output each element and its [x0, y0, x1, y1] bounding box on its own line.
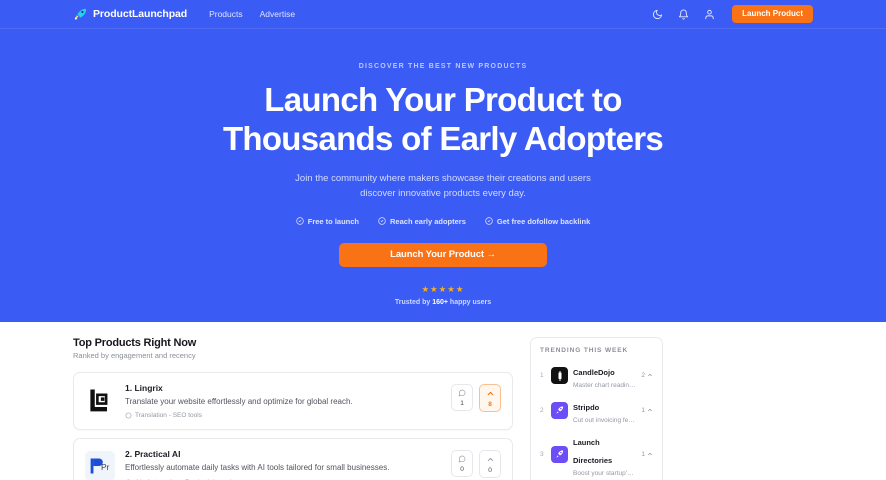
hero-launch-product-button[interactable]: Launch Your Product → — [339, 243, 547, 267]
product-description: Translate your website effortlessly and … — [125, 397, 441, 407]
product-title[interactable]: 2. Practical AI — [125, 449, 441, 459]
nav-link-products[interactable]: Products — [209, 9, 243, 19]
trending-votes: 1 — [641, 451, 653, 459]
trending-heading: TRENDING THIS WEEK — [540, 347, 653, 354]
hero-eyebrow: DISCOVER THE BEST NEW PRODUCTS — [0, 63, 886, 70]
chevron-up-icon — [647, 407, 653, 415]
theme-toggle-icon[interactable] — [651, 8, 664, 21]
upvote-count: 8 — [488, 401, 492, 408]
hero-feature-item: Reach early adopters — [378, 217, 466, 226]
check-circle-icon — [485, 217, 493, 225]
trending-rank: 2 — [540, 407, 546, 414]
trusted-count: 160+ — [432, 299, 448, 306]
practical-ai-logo-icon: Pr — [85, 451, 115, 480]
comment-icon — [458, 455, 466, 463]
hero-subtitle-line-1: Join the community where makers showcase… — [0, 172, 886, 187]
trending-rank: 3 — [540, 451, 546, 458]
chevron-up-icon — [647, 451, 653, 459]
upvote-button[interactable]: 8 — [479, 384, 501, 412]
trending-name[interactable]: Stripdo — [573, 403, 599, 412]
upvote-button[interactable]: 0 — [479, 450, 501, 478]
comment-button[interactable]: 1 — [451, 384, 473, 411]
hero-subtitle-line-2: discover innovative products every day. — [0, 187, 886, 202]
product-description: Effortlessly automate daily tasks with A… — [125, 463, 441, 473]
upvote-count: 0 — [488, 467, 492, 474]
comment-button[interactable]: 0 — [451, 450, 473, 477]
chevron-up-icon — [486, 455, 495, 464]
section-title: Top Products Right Now — [73, 337, 513, 349]
brand-logo-link[interactable]: ProductLaunchpad — [73, 7, 187, 22]
rocket-icon — [551, 402, 568, 419]
hero-section: DISCOVER THE BEST NEW PRODUCTS Launch Yo… — [0, 29, 886, 322]
product-tags: Translation - SEO tools — [125, 412, 441, 419]
hero-feature-list: Free to launch Reach early adopters Get … — [0, 217, 886, 226]
trending-list: 1 CandleDojo Master chart reading ... 2 — [540, 362, 653, 477]
header-launch-product-button[interactable]: Launch Product — [732, 5, 813, 23]
trending-name[interactable]: Launch Directories — [573, 438, 612, 465]
brand-name: ProductLaunchpad — [93, 8, 187, 20]
page-title: Launch Your Product to Thousands of Earl… — [0, 81, 886, 158]
header-actions: Launch Product — [651, 5, 813, 23]
notifications-icon[interactable] — [677, 8, 690, 21]
trending-description: Boost your startup's vis... — [573, 470, 636, 477]
product-tags-label: Translation - SEO tools — [135, 412, 202, 419]
sidebar-column: TRENDING THIS WEEK 1 CandleDojo Master c… — [530, 337, 663, 480]
account-icon[interactable] — [703, 8, 716, 21]
list-item[interactable]: Pr 2. Practical AI Effortlessly automate… — [73, 438, 513, 480]
comment-count: 1 — [460, 400, 464, 407]
svg-text:Pr: Pr — [101, 462, 110, 472]
comment-count: 0 — [460, 466, 464, 473]
list-item[interactable]: 1. Lingrix Translate your website effort… — [73, 372, 513, 430]
trending-vote-count: 2 — [641, 372, 645, 379]
trusted-prefix: Trusted by — [395, 299, 432, 306]
lingrix-logo-icon — [85, 385, 115, 415]
product-actions: 1 8 — [451, 384, 501, 412]
trending-card: TRENDING THIS WEEK 1 CandleDojo Master c… — [530, 337, 663, 480]
hero-feature-label: Free to launch — [308, 217, 359, 226]
candle-icon — [551, 367, 568, 384]
hero-subtitle: Join the community where makers showcase… — [0, 172, 886, 201]
list-item[interactable]: 2 Stripdo Cut out invoicing fees ... 1 — [540, 397, 653, 424]
trusted-by-label: Trusted by 160+ happy users — [0, 299, 886, 306]
hero-feature-label: Get free dofollow backlink — [497, 217, 590, 226]
trending-description: Master chart reading ... — [573, 382, 636, 389]
hero-title-line-2: Thousands of Early Adopters — [0, 120, 886, 159]
comment-icon — [458, 389, 466, 397]
check-circle-icon — [296, 217, 304, 225]
trending-description: Cut out invoicing fees ... — [573, 417, 636, 424]
rocket-logo-icon — [73, 7, 88, 22]
product-title[interactable]: 1. Lingrix — [125, 383, 441, 393]
trusted-suffix: happy users — [448, 299, 491, 306]
rating-stars: ★★★★★ — [0, 284, 886, 295]
check-circle-icon — [378, 217, 386, 225]
hero-feature-item: Get free dofollow backlink — [485, 217, 590, 226]
products-column: Top Products Right Now Ranked by engagem… — [73, 337, 513, 480]
product-list: 1. Lingrix Translate your website effort… — [73, 372, 513, 480]
trending-name[interactable]: CandleDojo — [573, 368, 615, 377]
list-item[interactable]: 1 CandleDojo Master chart reading ... 2 — [540, 362, 653, 389]
hero-feature-item: Free to launch — [296, 217, 359, 226]
trending-vote-count: 1 — [641, 451, 645, 458]
hero-title-line-1: Launch Your Product to — [0, 81, 886, 120]
trending-rank: 1 — [540, 372, 546, 379]
rocket-icon — [551, 446, 568, 463]
trending-vote-count: 1 — [641, 407, 645, 414]
primary-nav: Products Advertise — [209, 9, 295, 19]
list-item[interactable]: 3 Launch Directories Boost your startup'… — [540, 432, 653, 477]
main-content: Top Products Right Now Ranked by engagem… — [0, 322, 886, 480]
nav-link-advertise[interactable]: Advertise — [260, 9, 295, 19]
section-subtitle: Ranked by engagement and recency — [73, 351, 513, 360]
chevron-up-icon — [486, 389, 495, 398]
tag-icon — [125, 412, 132, 419]
site-header: ProductLaunchpad Products Advertise Laun… — [0, 0, 886, 29]
chevron-up-icon — [647, 372, 653, 380]
hero-feature-label: Reach early adopters — [390, 217, 466, 226]
product-actions: 0 0 — [451, 450, 501, 478]
trending-votes: 1 — [641, 407, 653, 415]
trending-votes: 2 — [641, 372, 653, 380]
